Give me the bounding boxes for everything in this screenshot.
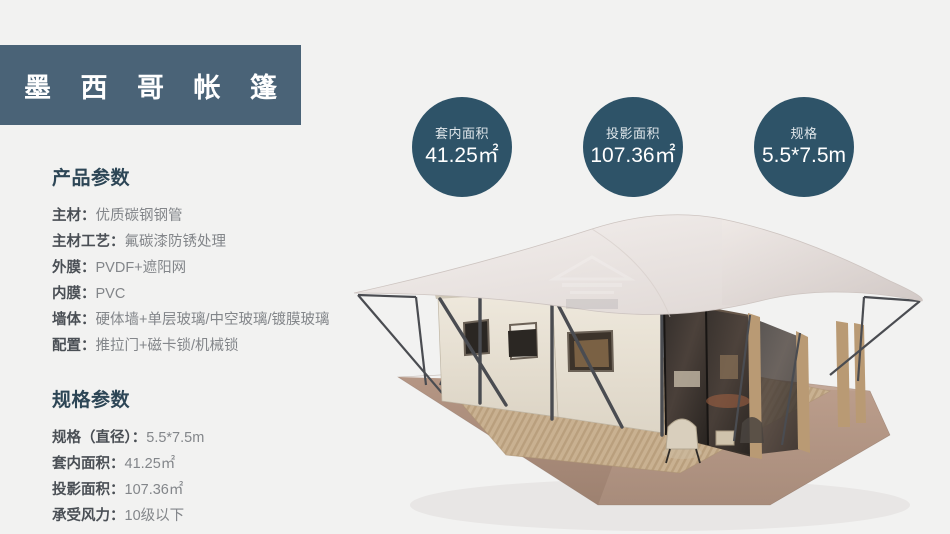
specifications-panel: 产品参数 主材：优质碳钢钢管 主材工艺：氟碳漆防锈处理 外膜：PVDF+遮阳网 … [52,163,352,529]
product-render-image [330,205,950,534]
param-value: 10级以下 [125,508,185,524]
badge-label: 投影面积 [606,127,660,141]
param-value: 氟碳漆防锈处理 [125,234,227,250]
param-label: 投影面积： [52,482,125,498]
badge-value: 5.5*7.5m [762,144,846,167]
badge-value: 107.36㎡ [590,144,675,167]
param-row: 投影面积：107.36㎡ [52,477,352,503]
param-row: 配置：推拉门+磁卡锁/机械锁 [52,333,352,359]
param-label: 主材： [52,208,96,224]
stat-badge-dimensions: 规格 5.5*7.5m [754,97,854,197]
param-row: 内膜：PVC [52,281,352,307]
stat-badge-projected-area: 投影面积 107.36㎡ [583,97,683,197]
param-row: 外膜：PVDF+遮阳网 [52,255,352,281]
param-row: 套内面积：41.25㎡ [52,451,352,477]
param-label: 套内面积： [52,456,125,472]
badge-label: 套内面积 [435,127,489,141]
title-banner: 墨 西 哥 帐 篷 [0,45,301,125]
param-value: 107.36㎡ [125,482,184,498]
stat-badge-interior-area: 套内面积 41.25㎡ [412,97,512,197]
badge-label: 规格 [790,127,817,141]
param-row: 规格（直径）：5.5*7.5m [52,425,352,451]
badge-value: 41.25㎡ [425,144,499,167]
param-label: 外膜： [52,260,96,276]
param-row: 承受风力：10级以下 [52,503,352,529]
param-value: 硬体墙+单层玻璃/中空玻璃/镀膜玻璃 [96,312,330,328]
param-row: 墙体：硬体墙+单层玻璃/中空玻璃/镀膜玻璃 [52,307,352,333]
page-title: 墨 西 哥 帐 篷 [13,66,288,105]
param-label: 承受风力： [52,508,125,524]
param-value: PVDF+遮阳网 [96,260,187,276]
param-label: 配置： [52,338,96,354]
param-label: 主材工艺： [52,234,125,250]
param-label: 墙体： [52,312,96,328]
param-value: PVC [96,286,126,302]
param-row: 主材工艺：氟碳漆防锈处理 [52,229,352,255]
param-value: 5.5*7.5m [146,430,204,446]
product-params-heading: 产品参数 [52,163,352,190]
param-value: 41.25㎡ [125,456,176,472]
param-label: 规格（直径）： [52,430,146,446]
param-value: 优质碳钢钢管 [96,208,183,224]
spec-params-heading: 规格参数 [52,385,352,412]
param-value: 推拉门+磁卡锁/机械锁 [96,338,239,354]
param-label: 内膜： [52,286,96,302]
param-row: 主材：优质碳钢钢管 [52,203,352,229]
